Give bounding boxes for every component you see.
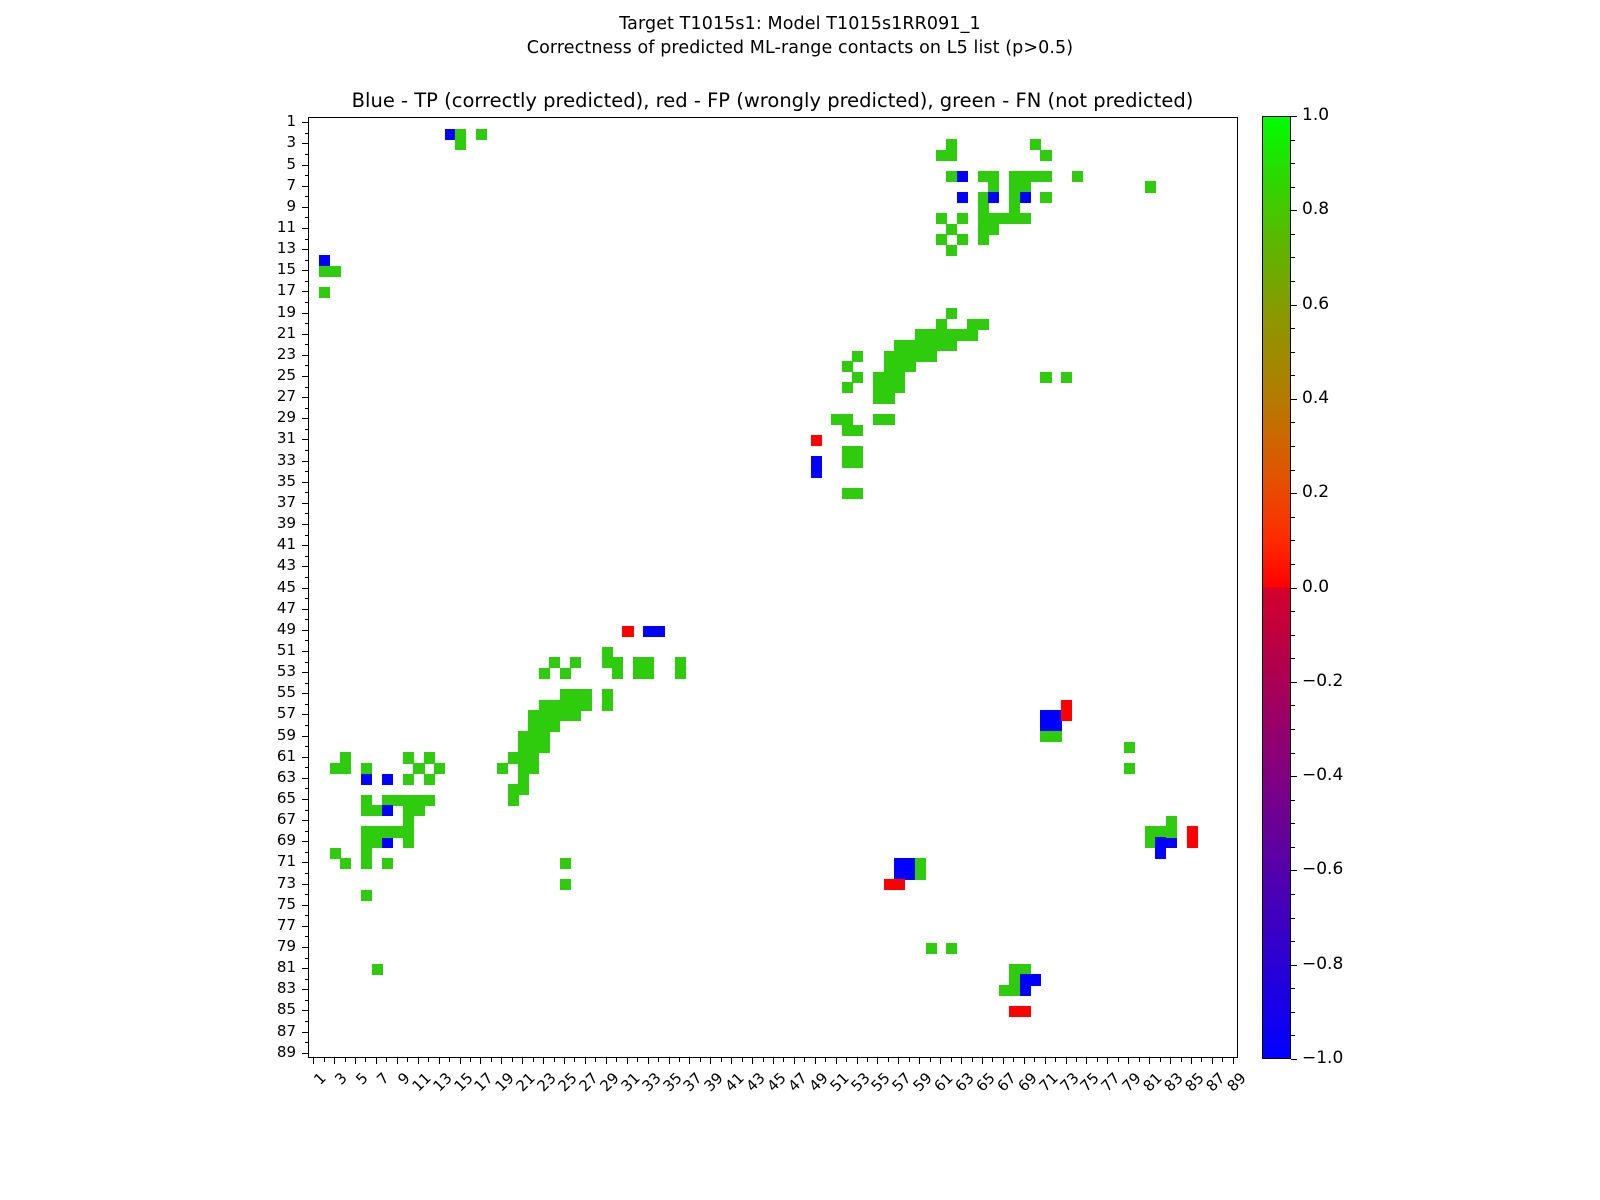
contact-cell-tp	[957, 192, 968, 203]
x-tick	[1222, 1058, 1223, 1062]
x-tick	[689, 1058, 690, 1064]
x-tick	[909, 1058, 910, 1062]
x-tick	[501, 1058, 502, 1064]
y-tick	[302, 439, 308, 440]
colorbar-minor-tick	[1291, 446, 1295, 447]
contact-cell-tp	[894, 869, 905, 880]
contact-cell-fn	[894, 340, 905, 351]
contact-cell-tp	[894, 858, 905, 869]
x-tick	[804, 1058, 805, 1062]
colorbar-tick-label: 0.0	[1302, 579, 1329, 596]
contact-cell-tp	[1040, 721, 1051, 732]
x-tick	[345, 1058, 346, 1062]
contact-cell-fn	[926, 329, 937, 340]
y-tick	[302, 249, 308, 250]
contact-cell-fn	[842, 488, 853, 499]
colorbar-minor-tick	[1291, 1035, 1295, 1036]
contact-cell-fn	[946, 245, 957, 256]
contact-cell-fn	[1124, 763, 1135, 774]
contact-cell-tp	[1051, 721, 1062, 732]
colorbar-minor-tick	[1291, 422, 1295, 423]
contact-cell-fn	[340, 858, 351, 869]
y-tick-label: 3	[256, 135, 296, 150]
y-tick-label: 65	[256, 791, 296, 806]
contact-cell-fn	[1009, 985, 1020, 996]
y-tick-label: 41	[256, 537, 296, 552]
y-tick-label: 51	[256, 643, 296, 658]
y-tick	[302, 143, 308, 144]
y-tick-label: 9	[256, 199, 296, 214]
contact-cell-fn	[1040, 731, 1051, 742]
y-tick	[305, 662, 309, 663]
contact-cell-fn	[361, 890, 372, 901]
contact-cell-fn	[957, 213, 968, 224]
contact-cell-fn	[926, 351, 937, 362]
contact-cell-fn	[643, 668, 654, 679]
colorbar-tick	[1291, 776, 1297, 777]
x-tick	[1160, 1058, 1161, 1062]
contact-cell-fn	[528, 763, 539, 774]
contact-cell-fn	[403, 752, 414, 763]
contact-cell-fp	[1061, 700, 1072, 711]
contact-cell-fn	[424, 774, 435, 785]
y-tick	[305, 704, 309, 705]
colorbar-minor-tick	[1291, 941, 1295, 942]
y-tick	[302, 1010, 308, 1011]
y-tick-label: 57	[256, 706, 296, 721]
contact-cell-fn	[936, 150, 947, 161]
x-tick	[825, 1058, 826, 1062]
y-tick	[302, 714, 308, 715]
contact-cell-fp	[884, 879, 895, 890]
contact-cell-fn	[894, 351, 905, 362]
y-tick	[305, 767, 309, 768]
contact-cell-fn	[528, 742, 539, 753]
x-tick	[491, 1058, 492, 1062]
contact-cell-fn	[518, 784, 529, 795]
x-tick	[669, 1058, 670, 1064]
contact-cell-tp	[1051, 710, 1062, 721]
contact-cell-fn	[1145, 181, 1156, 192]
contact-cell-fn	[905, 340, 916, 351]
y-tick	[305, 281, 309, 282]
contact-map-plot	[308, 117, 1238, 1058]
contact-cell-fn	[852, 488, 863, 499]
colorbar-tick-label: 0.4	[1302, 390, 1329, 407]
colorbar-minor-tick	[1291, 800, 1295, 801]
colorbar-tick-label: −0.2	[1302, 673, 1343, 690]
x-tick	[324, 1058, 325, 1062]
y-tick	[302, 736, 308, 737]
x-tick	[1118, 1058, 1119, 1062]
x-tick	[1149, 1058, 1150, 1064]
figure-title-line1: Target T1015s1: Model T1015s1RR091_1	[0, 14, 1600, 34]
x-tick	[679, 1058, 680, 1062]
x-tick	[554, 1058, 555, 1062]
y-tick-label: 83	[256, 981, 296, 996]
contact-cell-fn	[518, 763, 529, 774]
contact-cell-fn	[915, 858, 926, 869]
contact-cell-fn	[1145, 826, 1156, 837]
x-tick	[460, 1058, 461, 1064]
contact-cell-fn	[361, 858, 372, 869]
y-tick	[302, 228, 308, 229]
y-tick-label: 35	[256, 474, 296, 489]
y-tick	[305, 154, 309, 155]
contact-cell-fn	[1155, 826, 1166, 837]
x-tick	[1024, 1058, 1025, 1064]
y-tick	[302, 566, 308, 567]
contact-cell-fn	[361, 763, 372, 774]
contact-cell-fn	[884, 361, 895, 372]
contact-cell-tp	[319, 255, 330, 266]
y-tick	[305, 408, 309, 409]
y-tick	[305, 302, 309, 303]
y-tick	[305, 810, 309, 811]
contact-cell-fn	[842, 361, 853, 372]
contact-cell-fn	[894, 361, 905, 372]
contact-cell-tp	[1020, 192, 1031, 203]
y-tick	[305, 915, 309, 916]
contact-cell-fn	[905, 361, 916, 372]
colorbar-minor-tick	[1291, 1012, 1295, 1013]
contact-cell-fn	[1166, 826, 1177, 837]
contact-cell-fn	[382, 858, 393, 869]
y-tick	[302, 799, 308, 800]
contact-cell-fp	[1009, 1006, 1020, 1017]
contact-cell-fn	[905, 351, 916, 362]
contact-cell-fn	[539, 742, 550, 753]
contact-cell-fn	[403, 805, 414, 816]
x-tick	[564, 1058, 565, 1064]
y-tick	[302, 270, 308, 271]
contact-cell-fn	[894, 382, 905, 393]
contact-cell-fp	[1020, 1006, 1031, 1017]
y-tick-label: 13	[256, 241, 296, 256]
y-tick	[305, 492, 309, 493]
contact-cell-fn	[884, 393, 895, 404]
x-tick	[846, 1058, 847, 1062]
contact-cell-fn	[936, 234, 947, 245]
contact-cell-fn	[340, 763, 351, 774]
x-tick	[334, 1058, 335, 1064]
x-tick	[982, 1058, 983, 1064]
contact-cell-fn	[946, 139, 957, 150]
contact-cell-tp	[1166, 837, 1177, 848]
contact-cell-fn	[539, 710, 550, 721]
contact-cell-fn	[1009, 964, 1020, 975]
contact-cell-fn	[842, 382, 853, 393]
contact-cell-fn	[842, 425, 853, 436]
x-tick	[1181, 1058, 1182, 1062]
contact-map-cells	[309, 118, 1237, 1057]
contact-cell-fn	[539, 721, 550, 732]
contact-cell-fn	[936, 329, 947, 340]
y-tick	[305, 979, 309, 980]
contact-cell-fn	[539, 700, 550, 711]
x-tick	[397, 1058, 398, 1064]
y-tick	[305, 1000, 309, 1001]
x-tick	[1128, 1058, 1129, 1064]
x-tick	[1139, 1058, 1140, 1062]
colorbar-minor-tick	[1291, 257, 1295, 258]
y-tick-label: 39	[256, 516, 296, 531]
x-tick	[794, 1058, 795, 1064]
contact-cell-fn	[915, 329, 926, 340]
contact-cell-fn	[528, 721, 539, 732]
x-tick	[386, 1058, 387, 1062]
y-tick	[302, 503, 308, 504]
contact-cell-fn	[361, 826, 372, 837]
contact-cell-fn	[393, 826, 404, 837]
contact-cell-fn	[1009, 203, 1020, 214]
colorbar-minor-tick	[1291, 611, 1295, 612]
contact-cell-fn	[988, 213, 999, 224]
contact-cell-fn	[549, 657, 560, 668]
contact-cell-fn	[967, 329, 978, 340]
y-tick-label: 81	[256, 960, 296, 975]
x-tick	[1003, 1058, 1004, 1064]
contact-cell-fn	[361, 848, 372, 859]
colorbar-tick-label: −0.4	[1302, 767, 1343, 784]
contact-cell-fn	[988, 224, 999, 235]
contact-cell-fn	[602, 657, 613, 668]
contact-cell-fn	[852, 351, 863, 362]
colorbar-minor-tick	[1291, 705, 1295, 706]
x-tick	[616, 1058, 617, 1062]
y-tick	[302, 757, 308, 758]
colorbar-minor-tick	[1291, 352, 1295, 353]
y-tick	[302, 334, 308, 335]
figure-canvas: Target T1015s1: Model T1015s1RR091_1 Cor…	[0, 0, 1600, 1200]
contact-cell-fn	[1009, 181, 1020, 192]
y-tick	[302, 820, 308, 821]
figure-title-line2: Correctness of predicted ML-range contac…	[0, 38, 1600, 58]
x-tick	[898, 1058, 899, 1064]
x-tick	[1233, 1058, 1234, 1064]
y-tick	[305, 640, 309, 641]
y-tick-label: 33	[256, 453, 296, 468]
colorbar-gradient	[1262, 116, 1291, 1059]
colorbar-minor-tick	[1291, 658, 1295, 659]
y-tick-label: 29	[256, 410, 296, 425]
y-tick	[305, 873, 309, 874]
contact-cell-tp	[1030, 974, 1041, 985]
contact-cell-fn	[852, 456, 863, 467]
colorbar-tick-label: 0.2	[1302, 484, 1329, 501]
contact-cell-fn	[884, 414, 895, 425]
y-tick	[302, 905, 308, 906]
y-tick	[302, 313, 308, 314]
x-tick	[1097, 1058, 1098, 1062]
x-tick	[1013, 1058, 1014, 1062]
contact-cell-fn	[1020, 213, 1031, 224]
contact-cell-fn	[884, 351, 895, 362]
y-tick-label: 75	[256, 897, 296, 912]
contact-cell-fp	[1187, 837, 1198, 848]
contact-cell-fn	[978, 203, 989, 214]
contact-cell-fn	[999, 213, 1010, 224]
contact-cell-tp	[1155, 837, 1166, 848]
y-tick-label: 31	[256, 431, 296, 446]
contact-cell-fn	[873, 393, 884, 404]
contact-cell-fn	[915, 869, 926, 880]
contact-cell-fn	[539, 668, 550, 679]
y-tick	[302, 376, 308, 377]
y-tick	[302, 291, 308, 292]
y-tick	[305, 513, 309, 514]
contact-cell-fn	[518, 774, 529, 785]
x-tick	[992, 1058, 993, 1062]
contact-cell-fn	[915, 340, 926, 351]
y-tick	[305, 196, 309, 197]
colorbar-tick-label: 1.0	[1302, 107, 1329, 124]
contact-cell-fn	[675, 668, 686, 679]
contact-cell-fn	[926, 340, 937, 351]
contact-cell-fn	[978, 234, 989, 245]
contact-cell-fn	[330, 763, 341, 774]
contact-cell-fn	[413, 763, 424, 774]
contact-cell-fn	[957, 329, 968, 340]
y-tick	[302, 862, 308, 863]
contact-cell-tp	[361, 774, 372, 785]
x-tick	[627, 1058, 628, 1064]
contact-cell-fn	[560, 668, 571, 679]
x-tick	[763, 1058, 764, 1062]
y-tick	[305, 746, 309, 747]
contact-cell-fn	[946, 340, 957, 351]
x-tick	[595, 1058, 596, 1062]
contact-cell-fn	[1009, 171, 1020, 182]
y-tick-label: 49	[256, 622, 296, 637]
colorbar-tick	[1291, 210, 1297, 211]
x-tick	[783, 1058, 784, 1062]
y-tick	[302, 355, 308, 356]
y-tick-label: 77	[256, 918, 296, 933]
colorbar-minor-tick	[1291, 470, 1295, 471]
colorbar-tick	[1291, 399, 1297, 400]
x-tick	[867, 1058, 868, 1062]
x-tick	[700, 1058, 701, 1062]
contact-cell-fn	[508, 784, 519, 795]
x-tick	[1191, 1058, 1192, 1064]
contact-cell-fn	[978, 213, 989, 224]
y-tick	[302, 841, 308, 842]
y-tick	[302, 545, 308, 546]
y-tick	[302, 186, 308, 187]
contact-cell-fn	[518, 752, 529, 763]
y-tick	[302, 207, 308, 208]
contact-cell-fn	[403, 837, 414, 848]
colorbar-minor-tick	[1291, 729, 1295, 730]
contact-cell-fn	[1124, 742, 1135, 753]
contact-cell-fn	[372, 837, 383, 848]
contact-cell-fn	[1009, 213, 1020, 224]
y-tick	[302, 524, 308, 525]
x-tick	[365, 1058, 366, 1062]
contact-cell-fp	[622, 626, 633, 637]
y-tick	[302, 418, 308, 419]
y-tick	[305, 387, 309, 388]
y-tick-label: 15	[256, 262, 296, 277]
contact-cell-fn	[946, 308, 957, 319]
y-tick	[302, 1053, 308, 1054]
contact-cell-fn	[560, 700, 571, 711]
contact-cell-fn	[873, 414, 884, 425]
contact-cell-fn	[1030, 171, 1041, 182]
contact-cell-fn	[560, 689, 571, 700]
contact-cell-fn	[936, 340, 947, 351]
contact-cell-fn	[455, 129, 466, 140]
contact-cell-tp	[988, 192, 999, 203]
contact-cell-fn	[852, 372, 863, 383]
contact-cell-fn	[852, 446, 863, 457]
contact-cell-fn	[1020, 171, 1031, 182]
y-tick	[302, 1032, 308, 1033]
contact-cell-fn	[508, 752, 519, 763]
colorbar-tick	[1291, 493, 1297, 494]
contact-cell-fn	[581, 689, 592, 700]
contact-cell-tp	[811, 467, 822, 478]
x-tick	[930, 1058, 931, 1062]
y-tick	[305, 471, 309, 472]
x-tick	[522, 1058, 523, 1064]
contact-cell-fn	[413, 795, 424, 806]
contact-cell-fn	[884, 372, 895, 383]
contact-cell-fn	[413, 805, 424, 816]
x-tick	[574, 1058, 575, 1062]
colorbar-minor-tick	[1291, 918, 1295, 919]
y-tick	[305, 831, 309, 832]
y-tick	[302, 693, 308, 694]
contact-cell-fn	[319, 287, 330, 298]
y-tick	[302, 461, 308, 462]
y-tick	[302, 947, 308, 948]
colorbar-minor-tick	[1291, 187, 1295, 188]
contact-cell-fn	[978, 171, 989, 182]
contact-cell-fn	[455, 139, 466, 150]
contact-cell-fn	[936, 319, 947, 330]
colorbar-minor-tick	[1291, 234, 1295, 235]
y-tick	[302, 778, 308, 779]
contact-cell-fn	[988, 171, 999, 182]
colorbar-minor-tick	[1291, 281, 1295, 282]
contact-cell-tp	[905, 858, 916, 869]
contact-cell-fn	[852, 425, 863, 436]
contact-cell-fn	[424, 752, 435, 763]
contact-cell-fn	[372, 805, 383, 816]
x-tick	[648, 1058, 649, 1064]
y-tick	[305, 175, 309, 176]
contact-cell-fn	[633, 668, 644, 679]
contact-cell-tp	[654, 626, 665, 637]
colorbar-tick-label: 0.8	[1302, 201, 1329, 218]
x-tick	[658, 1058, 659, 1062]
contact-cell-fn	[1030, 139, 1041, 150]
colorbar-tick	[1291, 965, 1297, 966]
contact-cell-fn	[528, 710, 539, 721]
x-tick	[355, 1058, 356, 1064]
y-tick-label: 11	[256, 220, 296, 235]
y-tick	[302, 968, 308, 969]
contact-cell-fn	[1145, 837, 1156, 848]
contact-cell-tp	[1040, 710, 1051, 721]
contact-cell-fn	[1040, 372, 1051, 383]
contact-cell-tp	[643, 626, 654, 637]
y-tick-label: 59	[256, 728, 296, 743]
y-tick-label: 23	[256, 347, 296, 362]
contact-cell-fn	[361, 805, 372, 816]
